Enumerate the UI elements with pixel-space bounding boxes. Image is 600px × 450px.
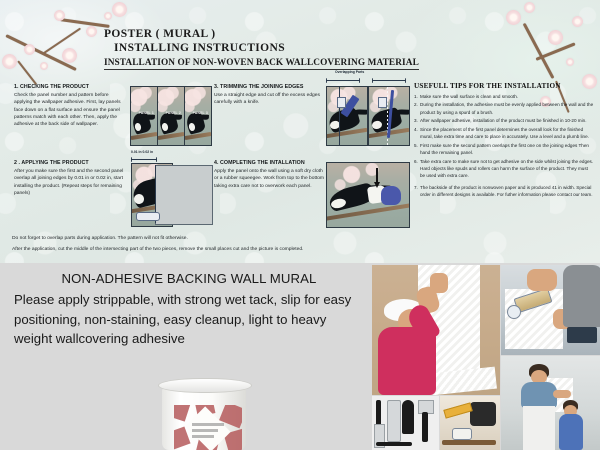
panel-1-label: PANEL 1 [139,111,154,115]
photo-applying-roller [501,265,600,355]
promo-text-block: NON-ADHESIVE BACKING WALL MURAL Please a… [14,271,364,349]
tip-2-number: 2. [414,101,418,108]
overlapping-label: Overlapping Parts [335,70,364,74]
promo-body: Please apply strippable, with strong wet… [14,290,364,349]
tip-6-text: Take extra care to make sure not to get … [420,159,593,179]
document-subtitle: INSTALLATION OF NON-WOVEN BACK WALLCOVER… [104,58,419,70]
photo-father-and-child [501,356,600,450]
tip-1-number: 1. [414,93,418,100]
tip-5-number: 5. [414,142,418,149]
diagram-panel-2: PANEL 2 [157,86,185,146]
tips-heading: USEFULL TIPS FOR THE INSTALLATION [414,82,594,90]
tip-7-number: 7. [414,184,418,191]
footnote-2: After the application, cut the middle of… [12,247,592,254]
tip-item-3: 3.After wallpaper adhesive, installation… [414,117,594,124]
squeegee-icon [136,212,160,221]
tip-1-text: Make sure the wall surface is clean and … [420,94,518,99]
diagram-completing-installation [326,162,410,228]
useful-tips-panel: USEFULL TIPS FOR THE INSTALLATION 1.Make… [414,82,594,200]
tip-6-number: 6. [414,158,418,165]
bucket-label [174,405,242,450]
tip-2-text: During the installation, the adhesive mu… [420,102,593,114]
tip-item-2: 2.During the installation, the adhesive … [414,101,594,116]
diagram-wall-surface [155,165,213,225]
measure-label: 0.01 in 0.02 in [131,150,153,154]
step-2-heading: 2 . APPLYING THE PRODUCT [14,160,126,166]
tip-5-text: First make sure the second pattern overl… [420,143,589,155]
promo-headline: NON-ADHESIVE BACKING WALL MURAL [14,271,364,286]
poster-instruction-sheet: POSTER ( MURAL ) INSTALLING INSTRUCTIONS… [0,0,600,450]
tip-4-number: 4. [414,126,418,133]
tip-item-6: 6.Take extra care to make sure not to ge… [414,158,594,180]
tip-item-1: 1.Make sure the wall surface is clean an… [414,93,594,100]
photo-collage [372,265,600,450]
tip-3-number: 3. [414,117,418,124]
measure-ruler [131,157,157,162]
step-4: 4. COMPLETING THE INTALLATION Apply the … [214,160,324,190]
overlap-ruler-left [326,78,360,83]
footnote-1: Do not forget to overlap parts during ap… [12,236,592,243]
panel-2-label: PANEL 2 [166,111,181,115]
step-3-body: Use a straight edge and cut off the exce… [214,92,324,107]
bucket-body [162,387,246,450]
adhesive-bucket-image [158,378,250,450]
title-line-2: INSTALLING INSTRUCTIONS [114,42,404,54]
panel-3-label: PANEL 3 [193,111,208,115]
step-2-body: After you make sure the first and the se… [14,168,126,197]
overlap-ruler-right [372,78,406,83]
step-4-body: Apply the panel onto the wall using a so… [214,168,324,190]
title-line-1: POSTER ( MURAL ) [104,28,404,40]
step-2: 2 . APPLYING THE PRODUCT After you make … [14,160,126,197]
diagram-panel-1: PANEL 1 [130,86,158,146]
tip-3-text: After wallpaper adhesive, installation o… [420,118,587,123]
photo-installation-tools [372,396,439,450]
tip-item-4: 4.Since the placement of the first panel… [414,126,594,141]
step-1: 1. CHECKING THE PRODUCT Check the panel … [14,84,126,129]
diagram-panel-3: PANEL 3 [184,86,212,146]
instruction-sheet-top: POSTER ( MURAL ) INSTALLING INSTRUCTIONS… [0,0,600,263]
step-3: 3. TRIMMING THE JOINING EDGES Use a stra… [214,84,324,107]
step-4-heading: 4. COMPLETING THE INTALLATION [214,160,324,166]
bucket-lid [158,378,252,393]
tip-item-7: 7.The backside of the product is nonwove… [414,184,594,199]
step-3-heading: 3. TRIMMING THE JOINING EDGES [214,84,324,90]
footnotes: Do not forget to overlap parts during ap… [12,236,592,258]
step-1-heading: 1. CHECKING THE PRODUCT [14,84,126,90]
tip-item-5: 5.First make sure the second pattern ove… [414,142,594,157]
tip-7-text: The backside of the product is nonwoven … [420,185,593,197]
photo-woman-hanging-wallpaper [372,265,500,395]
diagram-trimming-straightedge [368,86,410,146]
tip-4-text: Since the placement of the first panel d… [420,127,589,139]
photo-tools-on-table [440,396,500,450]
document-title-block: POSTER ( MURAL ) INSTALLING INSTRUCTIONS [104,28,404,54]
tips-list: 1.Make sure the wall surface is clean an… [414,93,594,199]
step-1-body: Check the panel number and pattern befor… [14,92,126,129]
diagram-trimming-knife [326,86,368,146]
